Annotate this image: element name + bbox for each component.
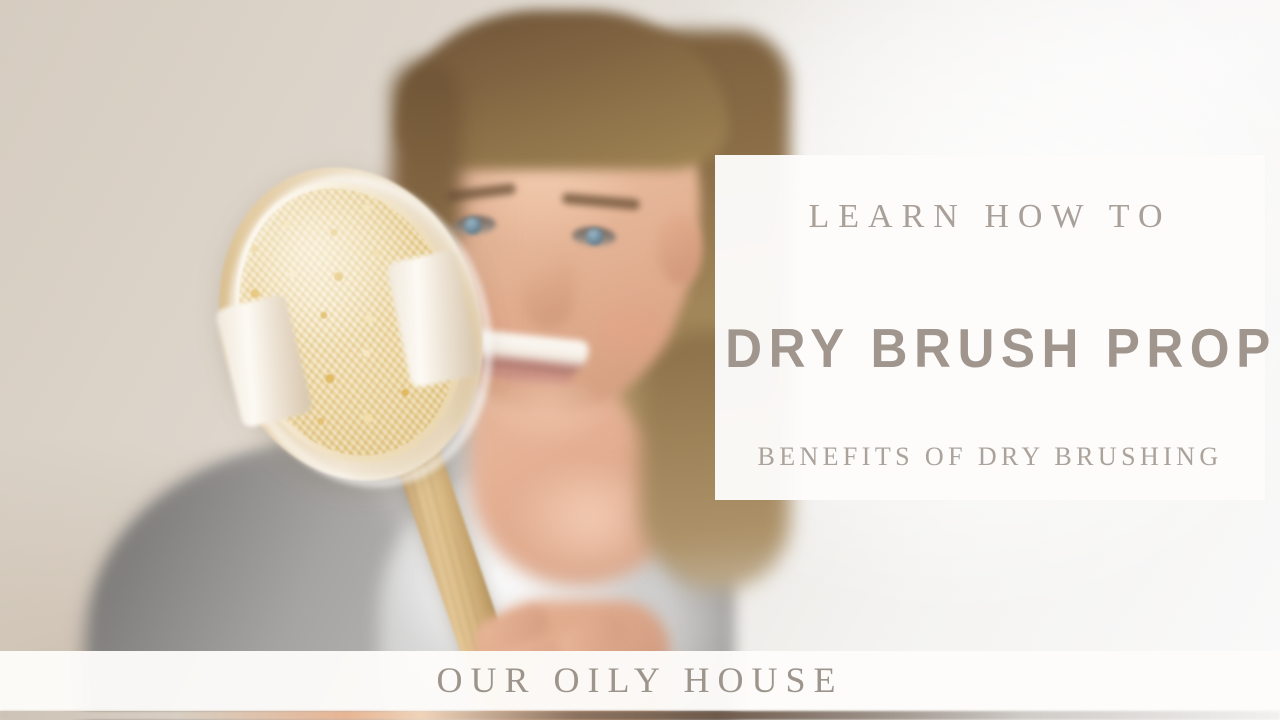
subline-text: BENEFITS OF DRY BRUSHING xyxy=(715,442,1265,472)
video-thumbnail: LEARN HOW TO DRY BRUSH PROPERLY BENEFITS… xyxy=(0,0,1280,720)
brand-name: OUR OILY HOUSE xyxy=(0,659,1280,701)
headline-text: DRY BRUSH PROPERLY xyxy=(725,316,1260,380)
photo-bottom-sliver xyxy=(0,711,1280,720)
kicker-text: LEARN HOW TO xyxy=(715,198,1265,236)
